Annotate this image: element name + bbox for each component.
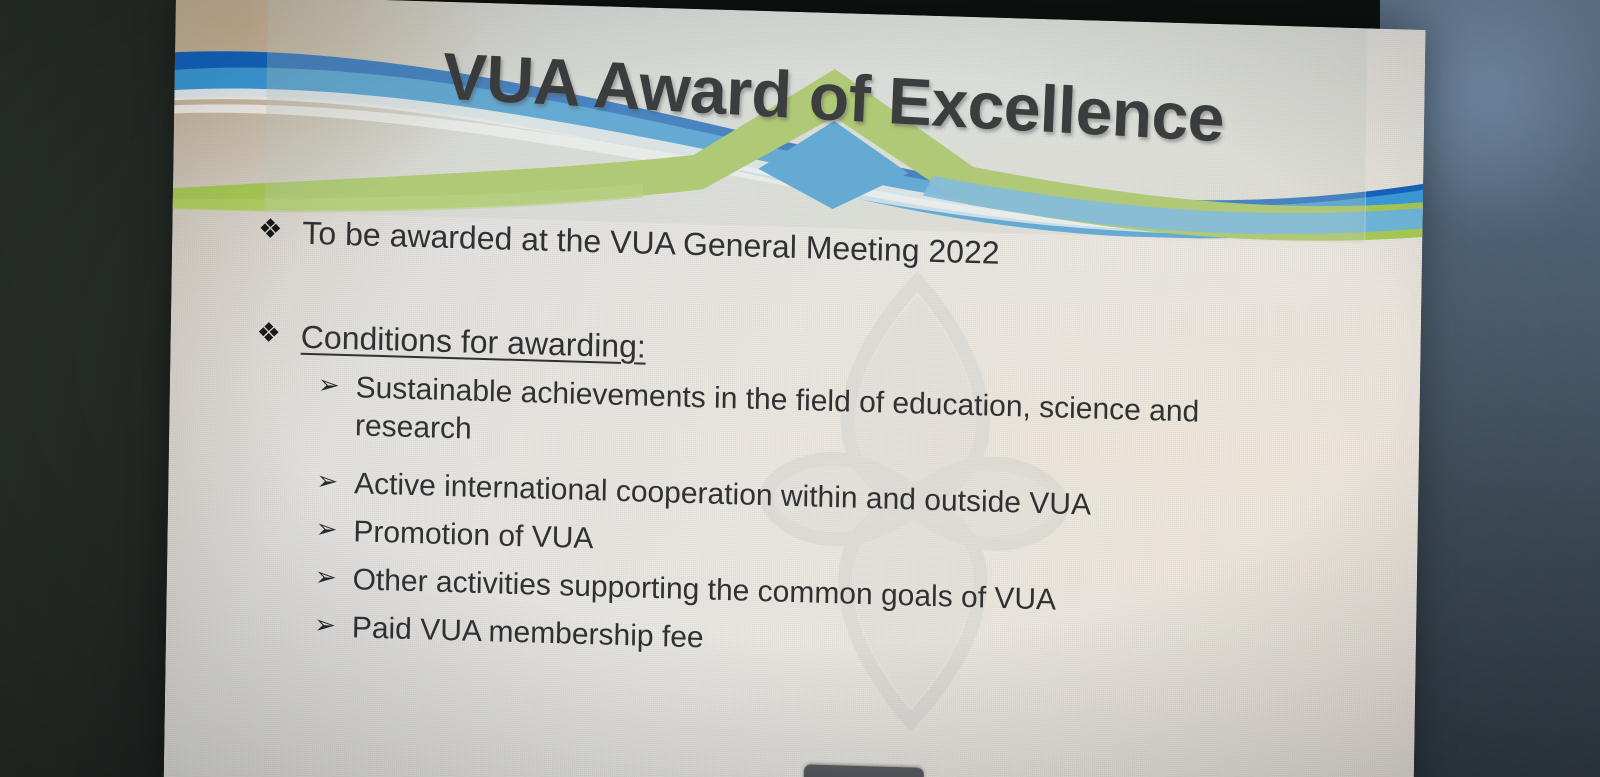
arrow-bullet-icon: ➢ — [315, 560, 337, 594]
slide-body: ❖ To be awarded at the VUA General Meeti… — [163, 0, 1425, 777]
arrow-bullet-icon: ➢ — [315, 512, 337, 546]
arrow-bullet-icon: ➢ — [314, 608, 336, 642]
meeting-room-scene: VUA Award of Excellence ❖ To be awarded … — [0, 0, 1600, 777]
sub-bullet-item-3: ➢ Promotion of VUA — [315, 512, 593, 558]
diamond-bullet-icon: ❖ — [258, 212, 283, 246]
wall-light-glow — [1400, 0, 1600, 240]
bullet-item-1: ❖ To be awarded at the VUA General Meeti… — [258, 212, 1000, 272]
bullet-text-2: Conditions for awarding: — [301, 318, 647, 366]
sub-bullet-item-5: ➢ Paid VUA membership fee — [314, 608, 704, 658]
diamond-bullet-icon: ❖ — [256, 316, 281, 350]
sub-bullet-item-1: ➢ Sustainable achievements in the field … — [317, 368, 1248, 472]
bullet-item-2: ❖ Conditions for awarding: — [256, 316, 646, 366]
sub-bullet-text-3: Promotion of VUA — [353, 513, 594, 558]
sub-bullet-text-5: Paid VUA membership fee — [352, 609, 704, 658]
arrow-bullet-icon: ➢ — [316, 464, 338, 498]
sub-bullet-text-1: Sustainable achievements in the field of… — [355, 369, 1248, 471]
arrow-bullet-icon: ➢ — [318, 368, 340, 402]
sub-bullet-text-4: Other activities supporting the common g… — [352, 561, 1056, 620]
projected-slide: VUA Award of Excellence ❖ To be awarded … — [163, 0, 1425, 777]
bullet-text-1: To be awarded at the VUA General Meeting… — [302, 214, 1000, 272]
